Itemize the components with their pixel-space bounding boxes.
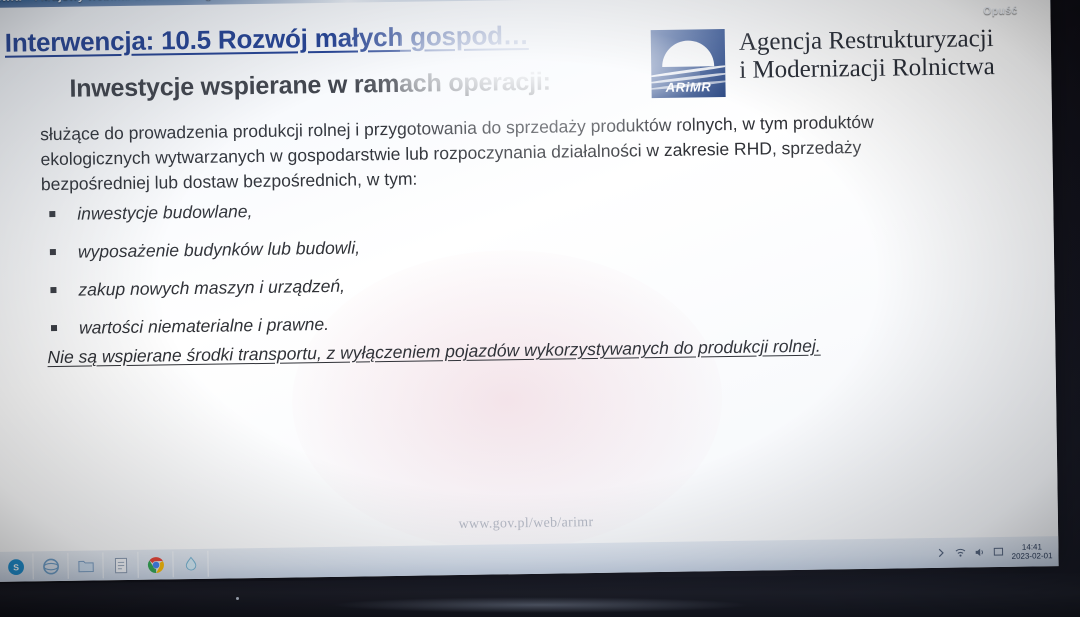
presentation-slide: Interwencja: 10.5 Rozwój małych gospod… … [0,0,1058,564]
bullet-text: zakup nowych maszyn i urządzeń, [78,275,345,299]
slide-lead-paragraph: służące do prowadzenia produkcji rolnej … [40,109,933,197]
list-item: wyposażenie budynków lub budowli, [48,234,608,264]
list-item: wartości niematerialne i prawne. [49,309,609,339]
droplet-icon [181,554,200,573]
show-hidden-icons[interactable] [935,547,947,559]
slide-bullet-list: inwestycje budowlane, wyposażenie budynk… [47,196,609,356]
arimr-wordmark-line1: Agencja Restrukturyzacji [739,25,995,57]
taskbar-item-skype[interactable]: S [0,553,34,580]
bullet-text: wyposażenie budynków lub budowli, [78,237,360,261]
list-item: inwestycje budowlane, [47,196,607,226]
arimr-wordmark: Agencja Restrukturyzacji i Modernizacji … [739,25,995,85]
skype-icon: S [6,557,25,576]
system-tray: 14:41 2023-02-01 [935,542,1058,562]
bullet-square-icon [49,211,55,217]
volume-icon[interactable] [973,546,985,558]
taskbar-item-folder[interactable] [68,552,103,579]
taskbar-item-document[interactable] [103,552,138,579]
arimr-wordmark-line2: i Modernizacji Rolnictwa [739,53,995,85]
taskbar-clock[interactable]: 14:41 2023-02-01 [1011,542,1052,561]
chrome-icon [146,555,165,574]
taskbar-icon-group: S [0,551,209,580]
arimr-emblem-icon: ARiMR [651,29,726,98]
leave-meeting-button[interactable]: Opuść [966,0,1035,23]
folder-icon [76,556,95,575]
slide-title: Interwencja: 10.5 Rozwój małych gospod… [5,20,529,59]
document-icon [111,555,130,574]
bullet-square-icon [51,325,57,331]
desk-speck [236,597,239,600]
monitor-photo: …twa – I krajowy webinar 2023 – 1 lutego… [0,0,1080,617]
action-center-icon[interactable] [992,546,1004,558]
taskbar-item-explorer[interactable] [33,553,68,580]
list-item: zakup nowych maszyn i urządzeń, [48,272,608,302]
slide-footer-url: www.gov.pl/web/arimr [0,508,1058,540]
bullet-text: wartości niematerialne i prawne. [79,314,329,338]
monitor-screen: …twa – I krajowy webinar 2023 – 1 lutego… [0,0,1059,582]
bullet-text: inwestycje budowlane, [77,201,252,224]
svg-text:S: S [13,562,19,572]
sun-shape [662,40,714,67]
bullet-square-icon [50,249,56,255]
network-icon[interactable] [954,547,966,559]
slide-subtitle: Inwestycje wspierane w ramach operacji: [69,68,551,104]
clock-date: 2023-02-01 [1012,551,1053,561]
arimr-logo: ARiMR Agencja Restrukturyzacji i Moderni… [651,25,995,98]
bullet-square-icon [50,287,56,293]
taskbar-item-chrome[interactable] [138,551,173,578]
explorer-icon [41,556,60,575]
arimr-acronym: ARiMR [651,79,725,95]
taskbar-item-droplet[interactable] [173,551,208,578]
